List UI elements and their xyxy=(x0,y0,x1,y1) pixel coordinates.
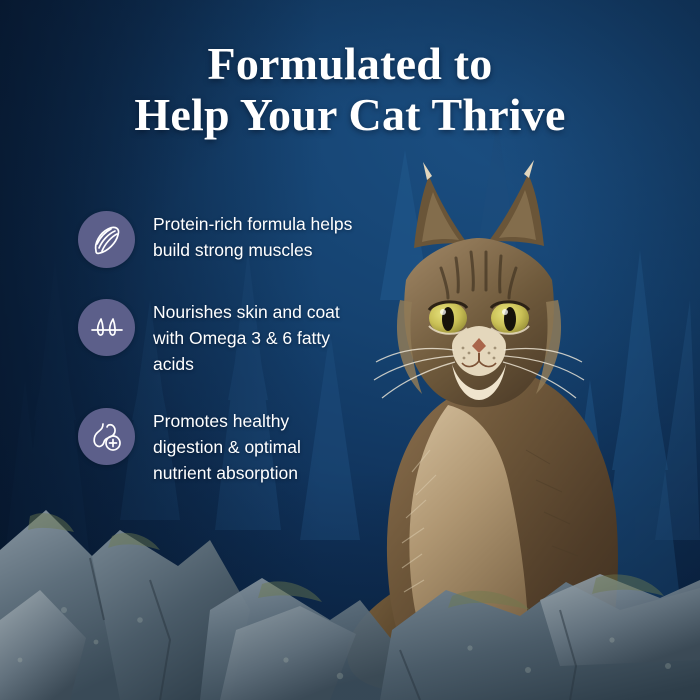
feature-text-digestion: Promotes healthy digestion & optimal nut… xyxy=(153,407,363,486)
product-feature-banner: Formulated to Help Your Cat Thrive Prote… xyxy=(0,0,700,700)
muscle-fiber-icon xyxy=(78,211,135,268)
headline-line-2: Help Your Cat Thrive xyxy=(0,89,700,140)
feature-item-protein: Protein-rich formula helps build strong … xyxy=(78,210,363,268)
feature-text-coat: Nourishes skin and coat with Omega 3 & 6… xyxy=(153,298,363,377)
feature-list: Protein-rich formula helps build strong … xyxy=(78,210,363,486)
feature-item-digestion: Promotes healthy digestion & optimal nut… xyxy=(78,407,363,486)
hair-follicle-icon xyxy=(78,299,135,356)
rock-foreground xyxy=(0,470,700,700)
stomach-plus-icon xyxy=(78,408,135,465)
feature-text-protein: Protein-rich formula helps build strong … xyxy=(153,210,363,263)
page-title: Formulated to Help Your Cat Thrive xyxy=(0,38,700,140)
headline-line-1: Formulated to xyxy=(0,38,700,89)
feature-item-coat: Nourishes skin and coat with Omega 3 & 6… xyxy=(78,298,363,377)
